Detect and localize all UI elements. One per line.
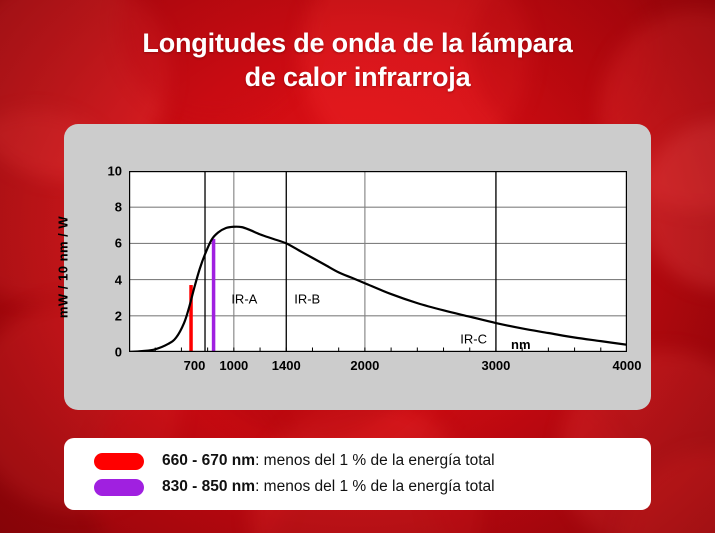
- y-axis-title: mW / 10 nm / W: [56, 216, 71, 318]
- legend-item-660-670: 660 - 670 nm: menos del 1 % de la energí…: [94, 449, 495, 473]
- legend-swatch-purple: [94, 479, 144, 496]
- marker-band-1: [212, 239, 216, 352]
- band-label-ir-b: IR-B: [294, 291, 320, 306]
- infographic-stage: Longitudes de onda de la lámpara de calo…: [0, 0, 715, 533]
- x-tick-label-1000: 1000: [219, 358, 248, 373]
- y-tick-label-6: 6: [115, 236, 122, 251]
- legend-label-purple: 830 - 850 nm: menos del 1 % de la energí…: [162, 478, 495, 496]
- x-tick-label-2000: 2000: [350, 358, 379, 373]
- x-axis-unit-label: nm: [511, 337, 531, 352]
- legend-range-purple: 830 - 850 nm: [162, 478, 255, 495]
- x-tick-label-1400: 1400: [272, 358, 301, 373]
- plot-background: [129, 171, 627, 352]
- legend-card: 660 - 670 nm: menos del 1 % de la energí…: [64, 438, 651, 510]
- page-title-line-2: de calor infrarroja: [0, 60, 715, 94]
- legend-label-red: 660 - 670 nm: menos del 1 % de la energí…: [162, 452, 495, 470]
- band-label-ir-c: IR-C: [460, 331, 487, 346]
- legend-desc-red: : menos del 1 % de la energía total: [255, 452, 495, 469]
- y-tick-label-4: 4: [115, 272, 122, 287]
- y-tick-label-10: 10: [108, 164, 122, 179]
- page-title-line-1: Longitudes de onda de la lámpara: [0, 26, 715, 60]
- x-tick-label-700: 700: [184, 358, 206, 373]
- chart-card: mW / 10 nm / W 0246810700100014002000300…: [64, 124, 651, 410]
- chart-plot-area: 024681070010001400200030004000 IR-AIR-BI…: [129, 171, 627, 352]
- y-tick-label-2: 2: [115, 308, 122, 323]
- legend-range-red: 660 - 670 nm: [162, 452, 255, 469]
- legend-swatch-red: [94, 453, 144, 470]
- band-label-ir-a: IR-A: [231, 291, 257, 306]
- page-title: Longitudes de onda de la lámpara de calo…: [0, 26, 715, 94]
- x-tick-label-3000: 3000: [481, 358, 510, 373]
- legend-item-830-850: 830 - 850 nm: menos del 1 % de la energí…: [94, 475, 495, 499]
- y-tick-label-0: 0: [115, 345, 122, 360]
- legend-desc-purple: : menos del 1 % de la energía total: [255, 478, 495, 495]
- y-tick-label-8: 8: [115, 200, 122, 215]
- x-tick-label-4000: 4000: [613, 358, 642, 373]
- chart-svg: [129, 171, 627, 352]
